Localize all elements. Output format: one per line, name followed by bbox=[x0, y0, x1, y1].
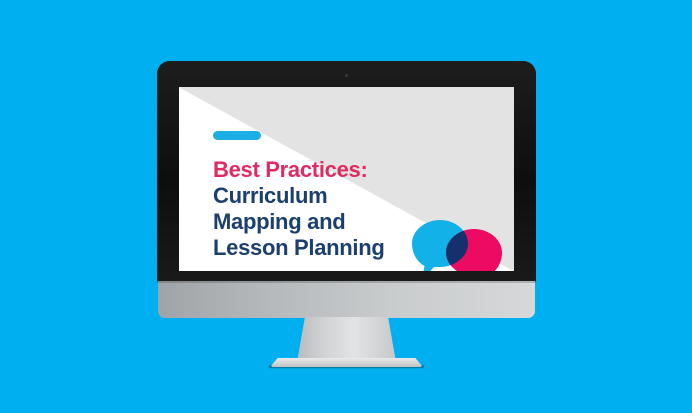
slide-title-line-1: Curriculum bbox=[213, 185, 463, 207]
monitor-stand-neck bbox=[297, 317, 396, 362]
poster-canvas: Best Practices: Curriculum Mapping and L… bbox=[0, 0, 692, 413]
accent-pill bbox=[213, 131, 261, 140]
monitor-stand-base bbox=[270, 358, 423, 367]
slide-title-eyebrow: Best Practices: bbox=[213, 159, 463, 181]
desktop-monitor: Best Practices: Curriculum Mapping and L… bbox=[157, 61, 536, 361]
monitor-chin bbox=[158, 281, 535, 318]
monitor-bezel: Best Practices: Curriculum Mapping and L… bbox=[157, 61, 536, 283]
webcam-icon bbox=[345, 74, 348, 77]
chin-top-edge bbox=[158, 281, 535, 283]
speech-bubbles-icon bbox=[412, 220, 504, 271]
monitor-screen: Best Practices: Curriculum Mapping and L… bbox=[179, 87, 514, 271]
